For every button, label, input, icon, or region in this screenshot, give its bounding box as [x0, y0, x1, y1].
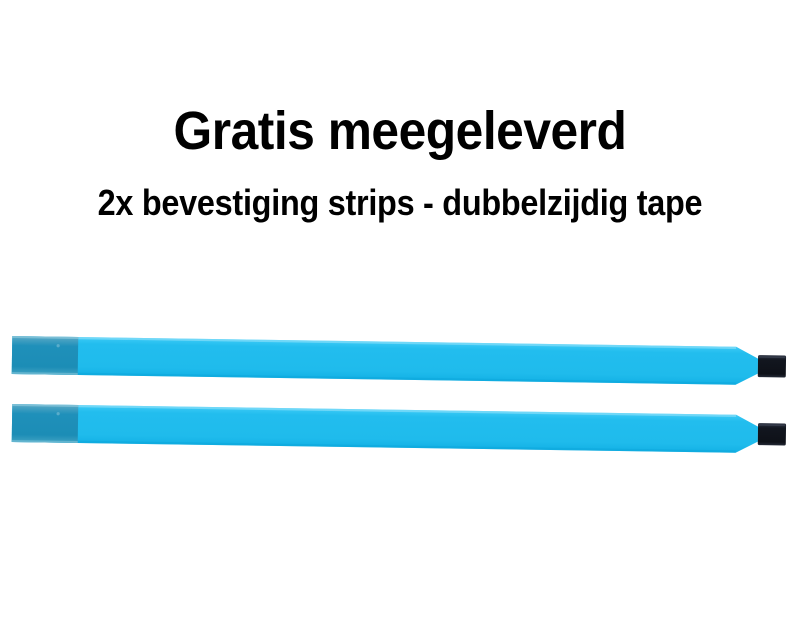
adhesive-strip-graphic: [10, 401, 789, 457]
liner-tab: [12, 404, 79, 443]
product-promo-banner: Gratis meegeleverd 2x bevestiging strips…: [0, 0, 800, 619]
adhesive-strip-upper: [10, 333, 789, 389]
product-image-area: [0, 0, 800, 619]
pull-tab: [758, 423, 786, 445]
adhesive-strip-graphic: [10, 333, 789, 389]
liner-tab: [12, 336, 79, 375]
adhesive-strip-lower: [10, 401, 789, 457]
pull-tab: [758, 355, 786, 377]
